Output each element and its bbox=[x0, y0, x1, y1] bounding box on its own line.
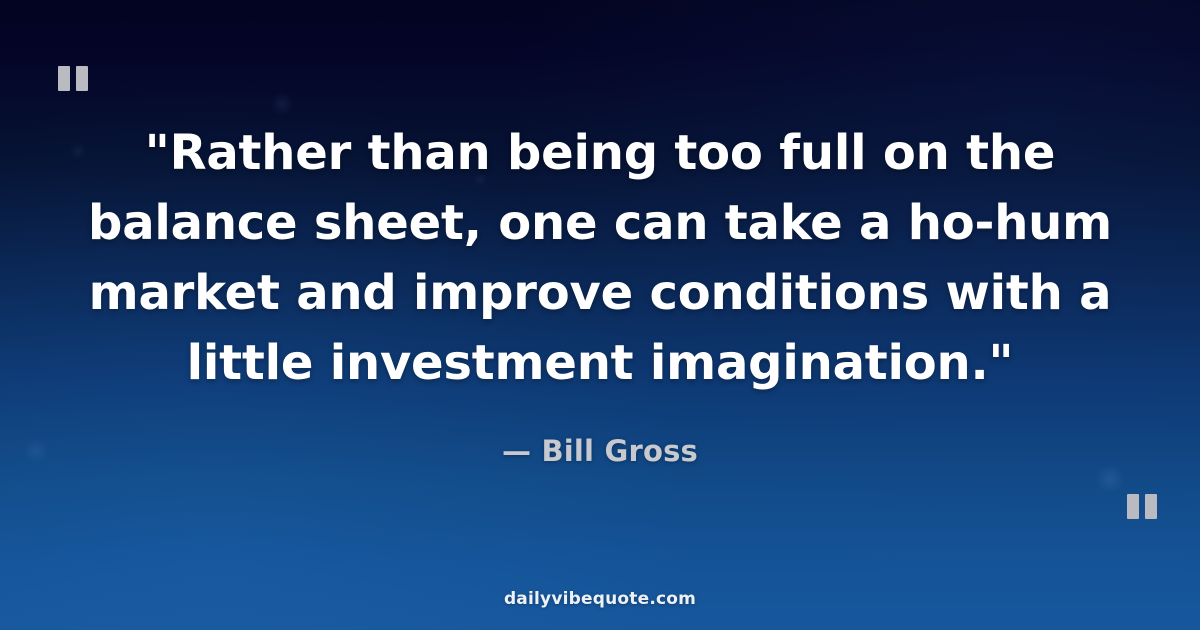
quote-line: "Rather than being too full on the bbox=[60, 118, 1140, 188]
quote-card: "Rather than being too full on the balan… bbox=[0, 0, 1200, 630]
quote-mark-bar bbox=[1145, 494, 1157, 519]
site-watermark: dailyvibequote.com bbox=[0, 589, 1200, 609]
quote-mark-icon-top bbox=[58, 66, 88, 91]
quote-line: balance sheet, one can take a ho-hum bbox=[60, 188, 1140, 258]
quote-text: "Rather than being too full on the balan… bbox=[60, 118, 1140, 398]
quote-mark-bar bbox=[58, 66, 70, 91]
quote-attribution: — Bill Gross bbox=[0, 434, 1200, 468]
quote-mark-bar bbox=[1127, 494, 1139, 519]
quote-line: little investment imagination." bbox=[60, 328, 1140, 398]
quote-mark-bar bbox=[76, 66, 88, 91]
quote-mark-icon-bottom bbox=[1127, 494, 1157, 519]
quote-line: market and improve conditions with a bbox=[60, 258, 1140, 328]
